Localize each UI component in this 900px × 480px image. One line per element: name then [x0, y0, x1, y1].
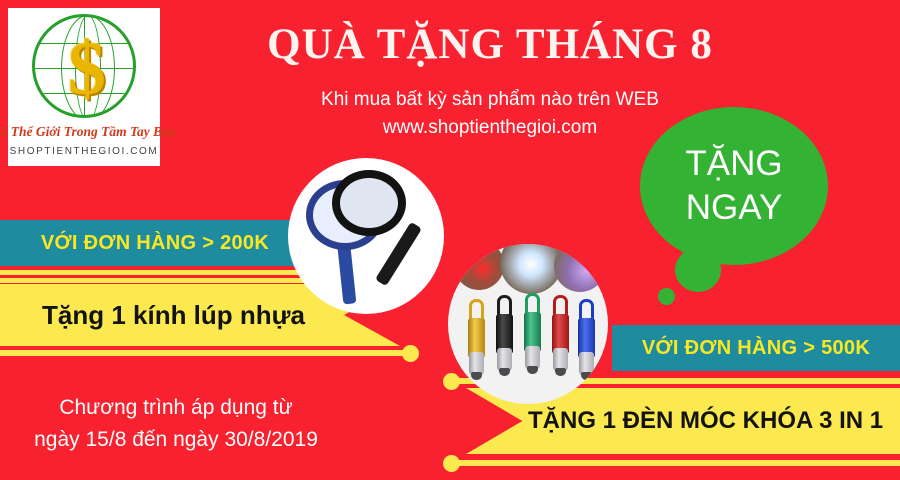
- magnifying-glass-icon: [288, 158, 444, 314]
- globe-icon: $: [32, 14, 136, 118]
- gift-bubble: TẶNG NGAY: [640, 107, 828, 265]
- decor-dot: [443, 373, 460, 390]
- logo-tagline: Cả Thế Giới Trong Tầm Tay Bạn: [0, 124, 176, 140]
- flashlight-gold: [468, 316, 485, 378]
- decor-dot: [443, 455, 460, 472]
- flashlight-tip: [555, 368, 566, 376]
- promo-period-line-2: ngày 15/8 đến ngày 30/8/2019: [6, 424, 346, 456]
- magnifier-lens: [332, 170, 406, 236]
- flashlight-black: [496, 312, 513, 374]
- offer-2-condition: VỚI ĐƠN HÀNG > 500K: [612, 325, 900, 371]
- flashlight-tip: [527, 366, 538, 374]
- gift-bubble-line-2: NGAY: [686, 186, 783, 230]
- inset-uv-light: [554, 244, 606, 292]
- promo-period-line-1: Chương trình áp dụng từ: [6, 392, 346, 424]
- flashlight-red: [552, 312, 569, 374]
- offer-1-condition: VỚI ĐƠN HÀNG > 200K: [0, 220, 310, 266]
- keychain-flashlight-icon: [448, 244, 608, 404]
- inset-red-light: [454, 244, 504, 290]
- flashlight-green: [524, 310, 541, 372]
- brand-logo: $ Cả Thế Giới Trong Tầm Tay Bạn SHOPTIEN…: [8, 8, 160, 166]
- flashlight-blue: [578, 316, 595, 378]
- promo-banner: $ Cả Thế Giới Trong Tầm Tay Bạn SHOPTIEN…: [0, 0, 900, 480]
- flashlight-tip: [471, 372, 482, 380]
- dollar-sign-icon: $: [35, 17, 136, 118]
- bubble-dot-icon: [658, 288, 675, 305]
- inset-white-light: [500, 244, 562, 294]
- decor-stripe: [452, 460, 900, 466]
- page-title: QUÀ TẶNG THÁNG 8: [180, 22, 800, 67]
- flashlight-tip: [499, 368, 510, 376]
- logo-website: SHOPTIENTHEGIOI.COM: [10, 146, 159, 157]
- promo-period-note: Chương trình áp dụng từ ngày 15/8 đến ng…: [6, 392, 346, 455]
- decor-dot: [402, 345, 419, 362]
- bubble-tail-icon: [675, 248, 721, 292]
- gift-bubble-line-1: TẶNG: [685, 142, 782, 186]
- decor-stripe: [0, 350, 408, 356]
